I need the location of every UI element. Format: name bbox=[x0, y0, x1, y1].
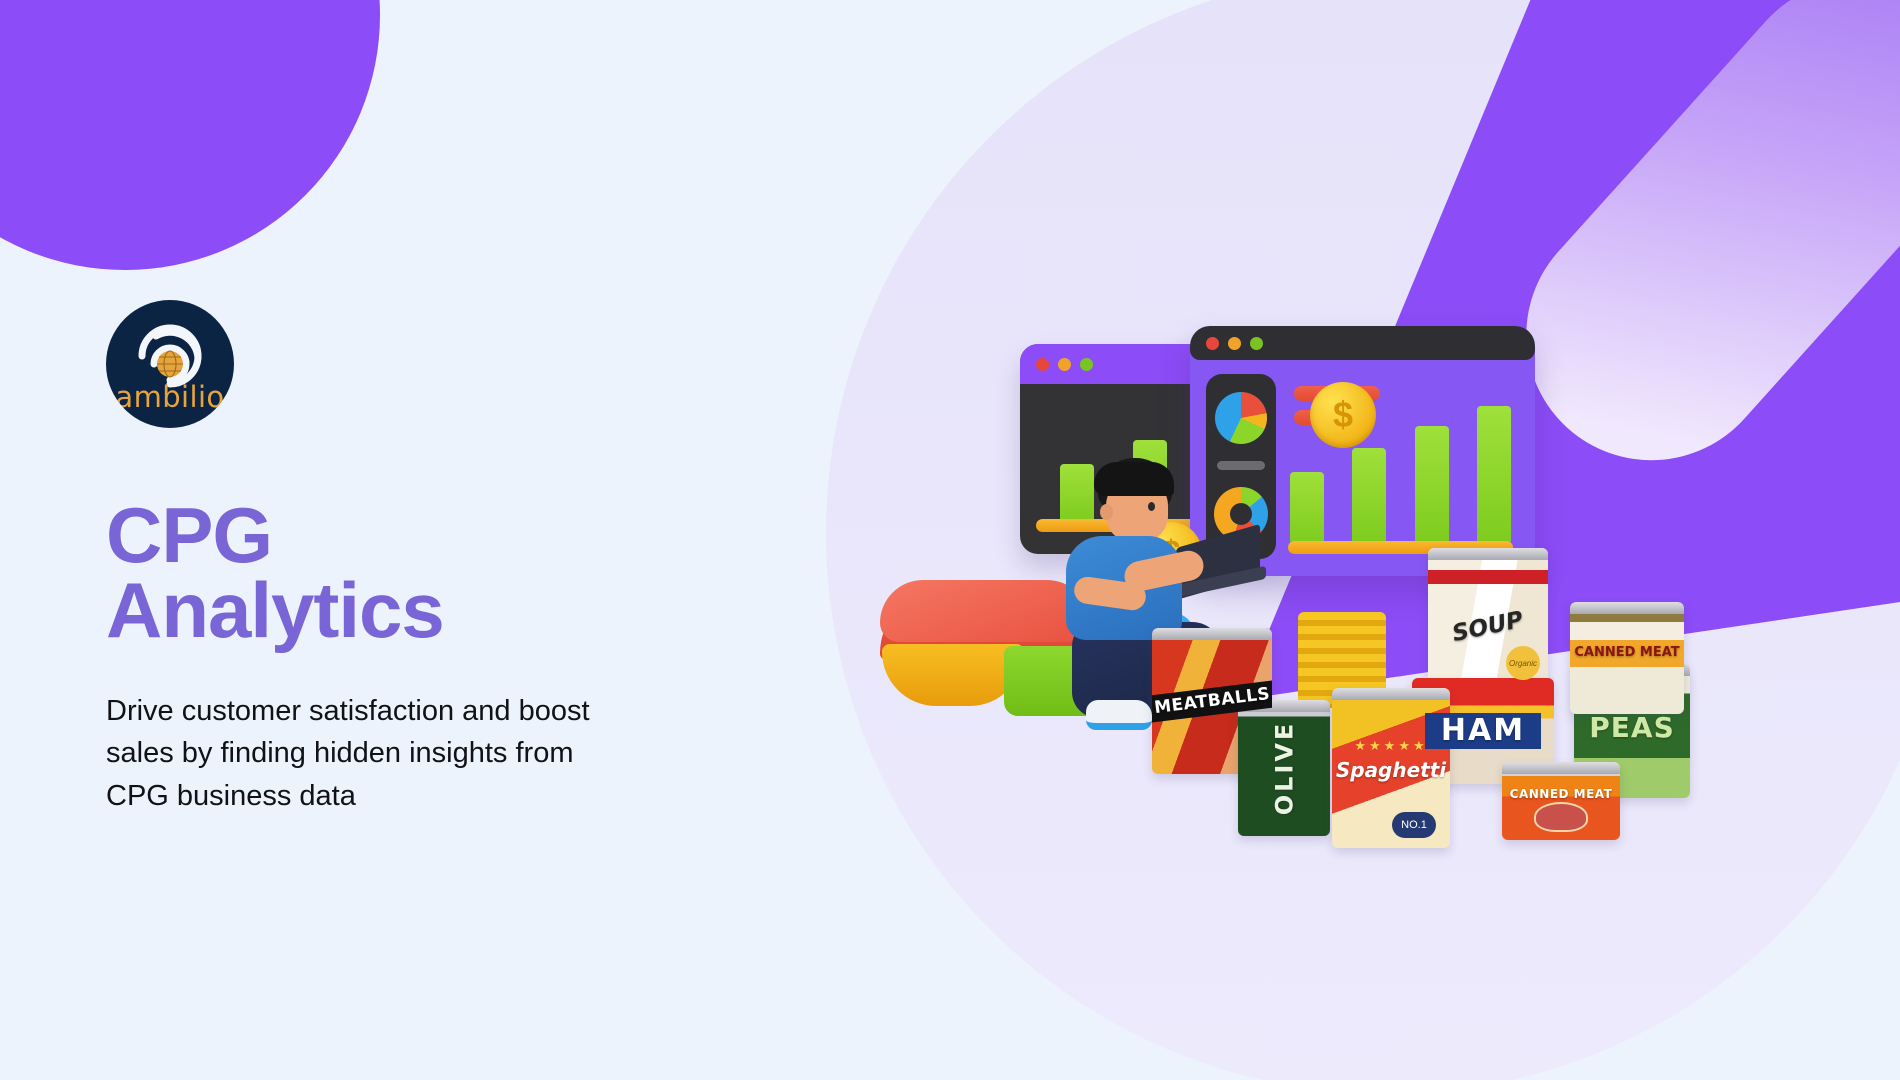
can-label: CANNED MEAT bbox=[1510, 788, 1613, 800]
dash-bar-1 bbox=[1290, 472, 1324, 544]
subtitle-line-3: CPG business data bbox=[106, 775, 726, 818]
cpg-analytics-illustration: $ $ MEATBALLS PEAS bbox=[990, 310, 1890, 1080]
can-spaghetti: ★★★★★ Spaghetti NO.1 bbox=[1332, 688, 1450, 848]
subtitle-line-1: Drive customer satisfaction and boost bbox=[106, 690, 726, 733]
subtitle-line-2: sales by finding hidden insights from bbox=[106, 732, 726, 775]
logo-wordmark: ambilio bbox=[106, 380, 234, 414]
dashboard-titlebar bbox=[1190, 326, 1535, 360]
star-rating: ★★★★★ bbox=[1332, 738, 1450, 754]
page-title: CPG Analytics bbox=[106, 498, 826, 648]
hair-front bbox=[1094, 462, 1174, 496]
hero-text-column: ambilio CPG Analytics Drive customer sat… bbox=[106, 300, 826, 818]
canned-goods-group: MEATBALLS PEAS CANNED MEAT SOUP Organic … bbox=[1190, 560, 1850, 820]
page-subtitle: Drive customer satisfaction and boost sa… bbox=[106, 690, 726, 818]
can-lid bbox=[1502, 762, 1620, 774]
organic-badge: Organic bbox=[1506, 646, 1540, 680]
can-lid bbox=[1428, 548, 1548, 560]
can-label: OLIVE bbox=[1272, 721, 1296, 816]
title-line-2: Analytics bbox=[106, 573, 826, 648]
ham-graphic bbox=[1534, 802, 1588, 832]
dollar-coin-icon: $ bbox=[1310, 382, 1376, 448]
can-lid bbox=[1152, 628, 1272, 640]
minimize-dot-icon bbox=[1058, 358, 1071, 371]
maximize-dot-icon bbox=[1250, 337, 1263, 350]
can-band bbox=[1428, 570, 1548, 584]
pie-chart-icon bbox=[1215, 392, 1267, 444]
dash-bar-2 bbox=[1352, 448, 1386, 544]
can-label: Spaghetti bbox=[1336, 760, 1446, 780]
can-canned-meat-round: CANNED MEAT bbox=[1502, 762, 1620, 840]
pie-slice-yellow bbox=[882, 644, 1024, 706]
eye bbox=[1148, 502, 1155, 511]
dash-bar-3 bbox=[1415, 426, 1449, 544]
no1-badge: NO.1 bbox=[1392, 812, 1436, 838]
dash-bar-4 bbox=[1477, 406, 1511, 544]
title-line-1: CPG bbox=[106, 498, 826, 573]
close-dot-icon bbox=[1036, 358, 1049, 371]
can-lid bbox=[1570, 602, 1684, 614]
maximize-dot-icon bbox=[1080, 358, 1093, 371]
ear bbox=[1100, 504, 1113, 520]
can-lid bbox=[1332, 688, 1450, 700]
can-label: CANNED MEAT bbox=[1574, 646, 1679, 659]
minimize-dot-icon bbox=[1228, 337, 1241, 350]
close-dot-icon bbox=[1206, 337, 1219, 350]
shoe bbox=[1086, 700, 1152, 730]
can-canned-meat-top: CANNED MEAT bbox=[1570, 602, 1684, 714]
ambilio-logo[interactable]: ambilio bbox=[106, 300, 234, 428]
can-label: PEAS bbox=[1589, 714, 1674, 742]
can-label: SOUP bbox=[1451, 608, 1526, 645]
purple-circle-top-left bbox=[0, 0, 380, 270]
can-olive: OLIVE bbox=[1238, 700, 1330, 836]
